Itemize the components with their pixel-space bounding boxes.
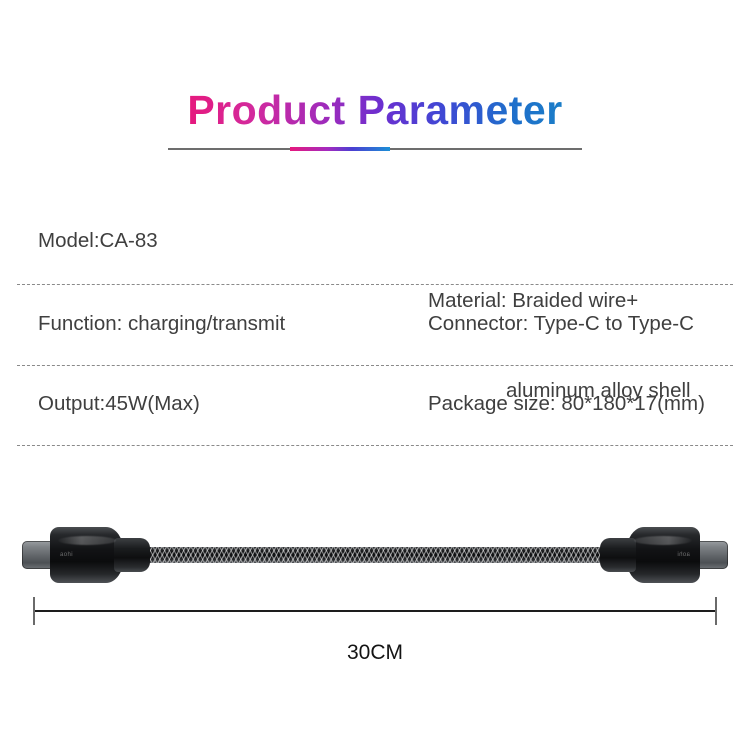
table-row: Function: charging/transmit Connector: T…: [0, 284, 750, 365]
title-underline-accent: [290, 147, 390, 151]
product-parameter-page: { "header": { "title": "Product Paramete…: [0, 0, 750, 750]
spec-table: Model:CA-83 Material: Braided wire+ alum…: [0, 206, 750, 445]
spec-connector: Connector: Type-C to Type-C: [428, 309, 732, 339]
page-title: Product Parameter: [187, 86, 562, 134]
dimension-end-cap-left: [33, 597, 35, 625]
title-block: Product Parameter: [0, 86, 750, 134]
usb-c-cable-image: aohi aohi: [22, 524, 728, 586]
connector-highlight-left: [58, 536, 116, 545]
dimension-line: [34, 610, 716, 612]
spec-function: Function: charging/transmit: [38, 309, 428, 339]
spec-package-size: Package size: 80*180*17(mm): [428, 389, 732, 419]
connector-brand-right: aohi: [650, 551, 690, 559]
dimension-label: 30CM: [0, 640, 750, 666]
table-row: Output:45W(Max) Package size: 80*180*17(…: [0, 365, 750, 445]
connector-strain-relief-left: [114, 538, 150, 572]
dimension-end-cap-right: [715, 597, 717, 625]
connector-strain-relief-right: [600, 538, 636, 572]
usb-c-connector-right: aohi: [600, 524, 728, 586]
spec-row-cells: Output:45W(Max) Package size: 80*180*17(…: [0, 365, 750, 419]
row-divider: [17, 445, 733, 446]
spec-row-cells: Function: charging/transmit Connector: T…: [0, 284, 750, 339]
table-row: Model:CA-83 Material: Braided wire+ alum…: [0, 206, 750, 284]
braided-cable-cord: [142, 547, 608, 563]
connector-brand-left: aohi: [60, 551, 100, 559]
usb-c-connector-left: aohi: [22, 524, 150, 586]
spec-output: Output:45W(Max): [38, 389, 428, 419]
connector-highlight-right: [634, 536, 692, 545]
title-underline: [168, 148, 582, 150]
spec-model: Model:CA-83: [38, 226, 428, 256]
